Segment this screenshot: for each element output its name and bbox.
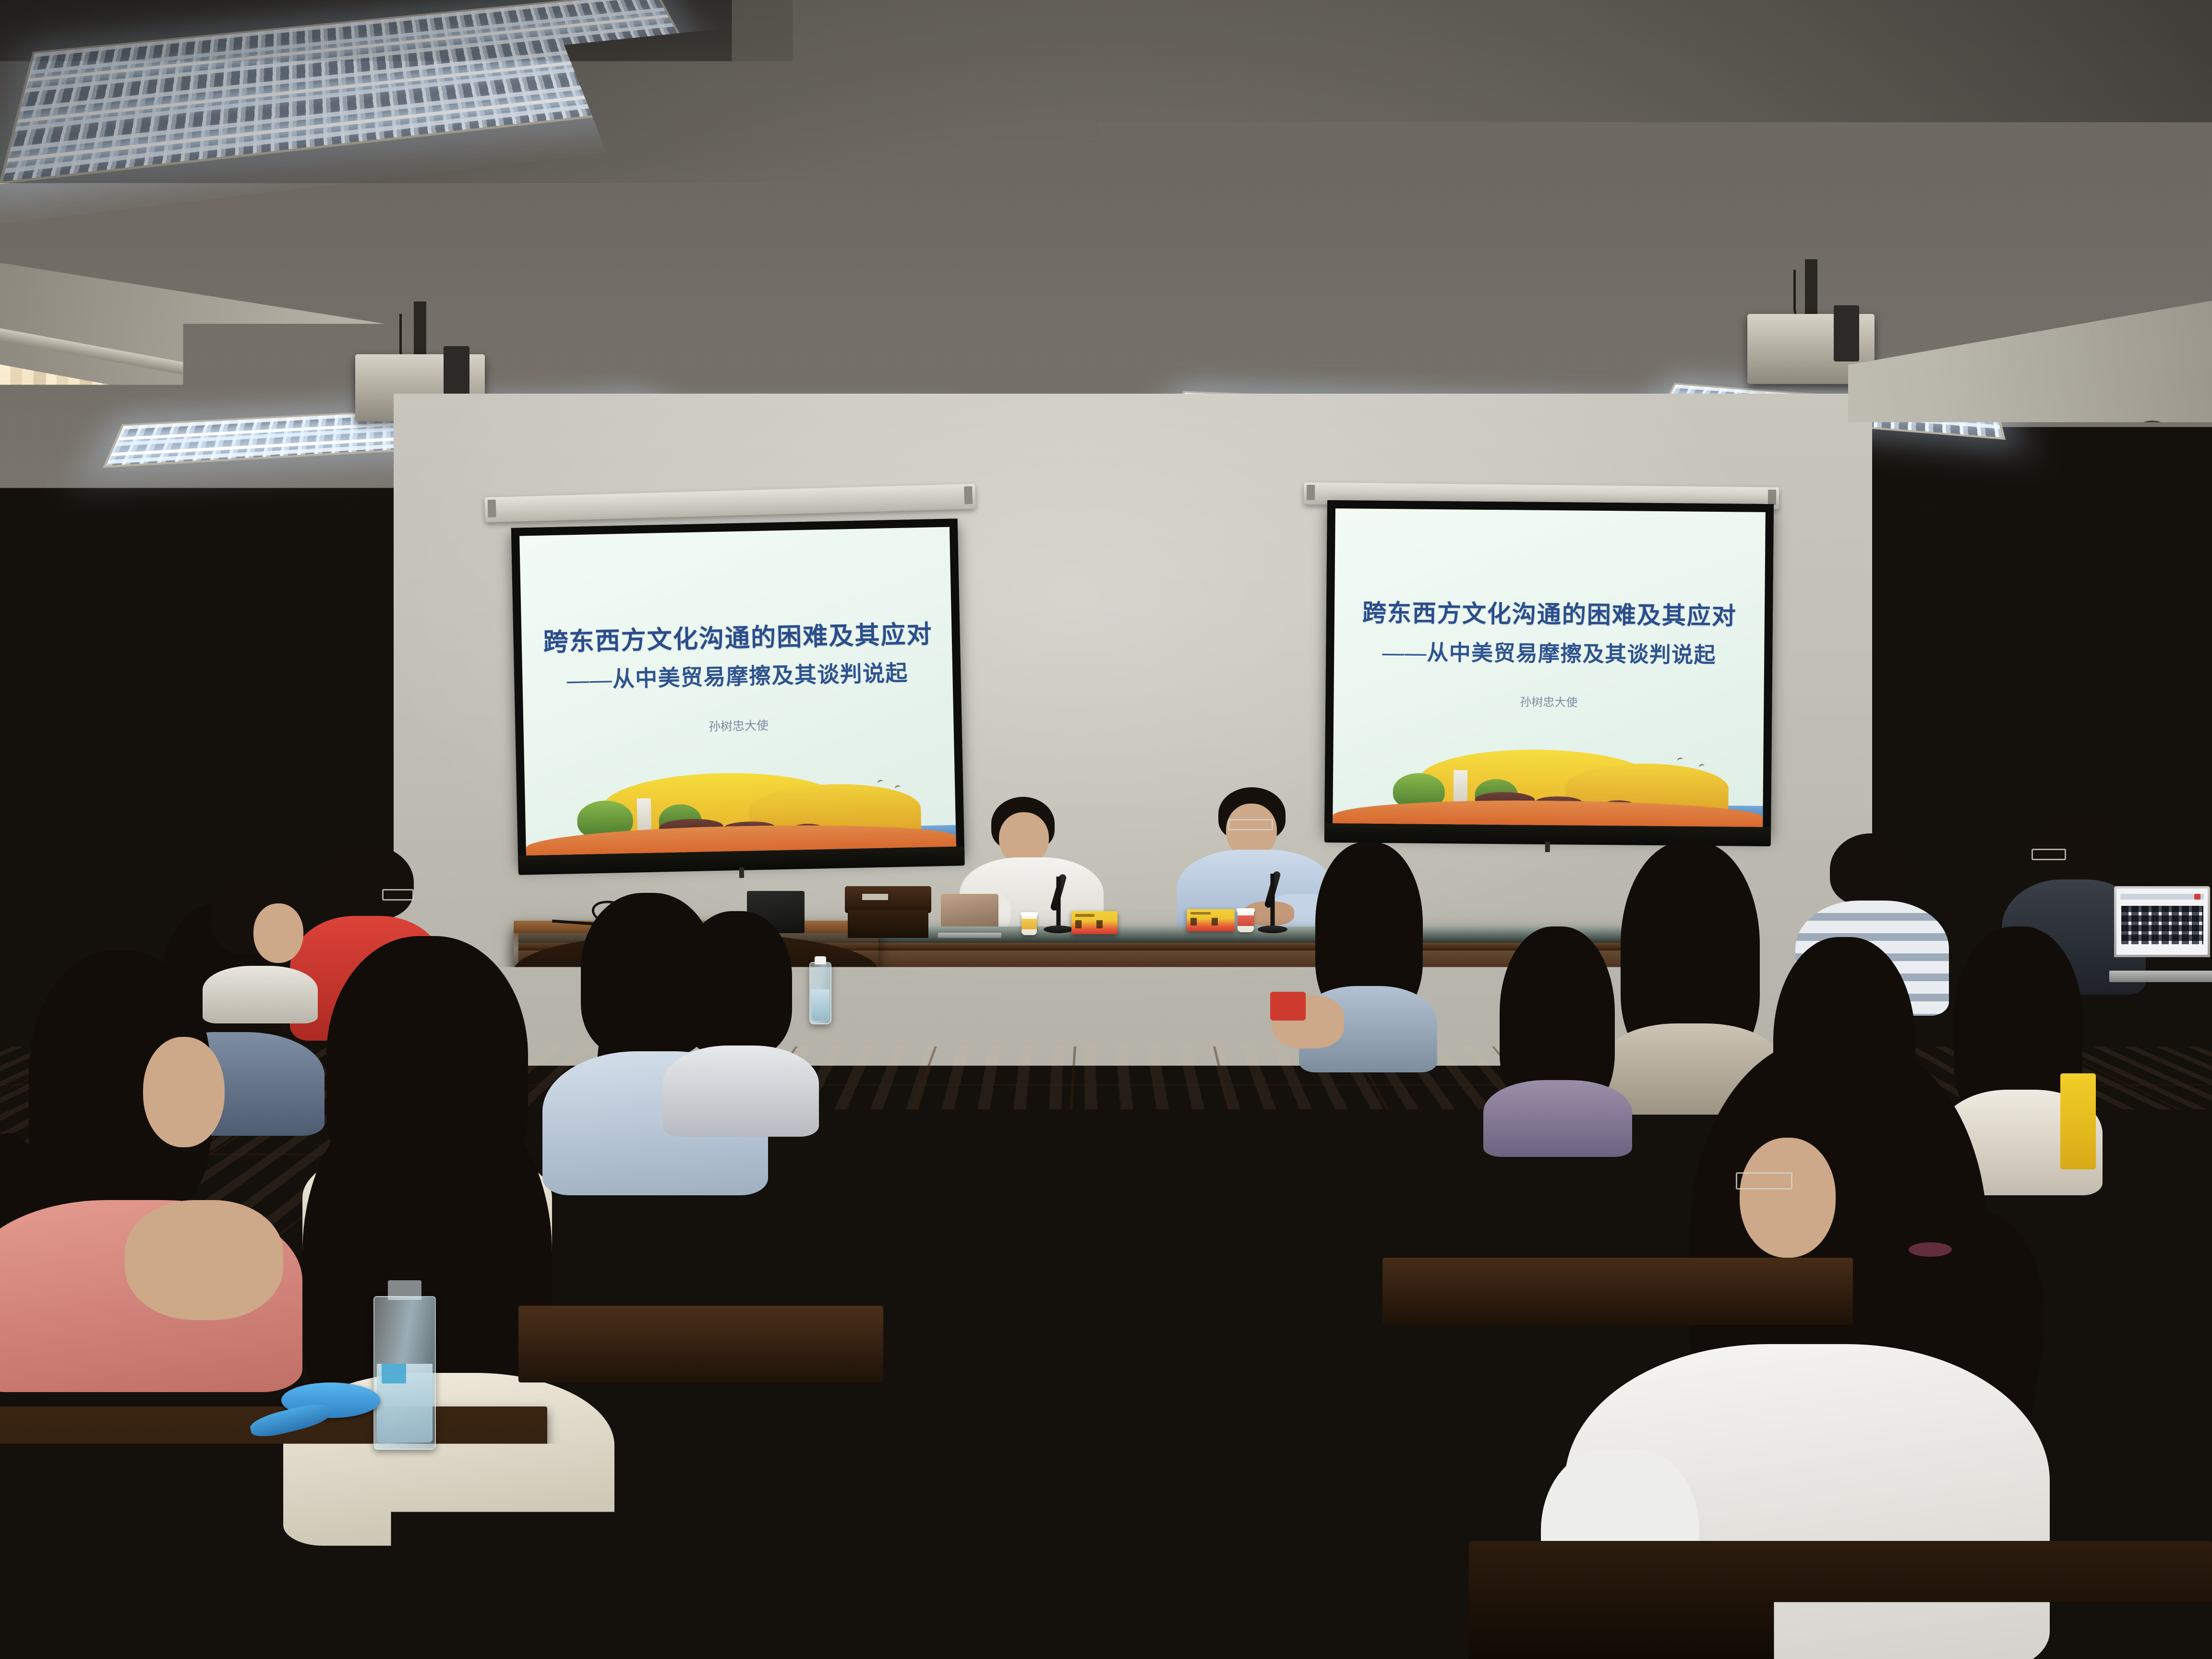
chair-label <box>862 894 888 900</box>
glass-water-bottle[interactable] <box>373 1296 436 1450</box>
slide-title-right: 跨东西方文化沟通的困难及其应对 <box>1356 594 1743 632</box>
bench-seat-left <box>202 1531 768 1659</box>
microphone-left[interactable] <box>1044 877 1073 933</box>
torso <box>662 1046 819 1137</box>
right-projection-screen: 跨东西方文化沟通的困难及其应对 ——从中美贸易摩擦及其谈判说起 孙树忠大使 <box>1324 500 1774 835</box>
hair <box>2033 811 2120 883</box>
name-placard-right <box>1187 909 1235 931</box>
student-laptop[interactable] <box>2114 886 2210 982</box>
left-slide-canvas: 跨东西方文化沟通的困难及其应对 ——从中美贸易摩擦及其谈判说起 孙树忠大使 <box>519 527 956 856</box>
bird-icon <box>1698 764 1705 770</box>
slide-subtitle-right: ——从中美贸易摩擦及其谈判说起 <box>1356 635 1743 669</box>
lecture-hall-photo: 跨东西方文化沟通的困难及其应对 ——从中美贸易摩擦及其谈判说起 孙树忠大使 <box>0 0 2212 1659</box>
red-sleeve <box>1270 992 1306 1021</box>
face <box>1740 1138 1836 1258</box>
glasses-icon <box>382 889 414 901</box>
slide-presenter-right: 孙树忠大使 <box>1355 691 1743 711</box>
door-handle-left[interactable] <box>2108 746 2116 792</box>
hair <box>682 911 792 1055</box>
student-right-blue-left <box>1296 842 1440 1068</box>
floor-outlet-cover <box>946 1372 994 1390</box>
door-push-bar[interactable] <box>2088 762 2140 767</box>
paper-cup-right <box>1238 908 1254 932</box>
slide-presenter-left: 孙树忠大使 <box>545 713 932 738</box>
bench-back-right <box>1382 1258 1853 1325</box>
slide-title-left: 跨东西方文化沟通的困难及其应对 <box>543 613 931 658</box>
glasses-icon <box>1736 1172 1792 1190</box>
bird-icon <box>877 779 883 786</box>
floor-outlet-cover <box>1084 1371 1132 1389</box>
plastic-water-bottle[interactable] <box>809 962 831 1024</box>
right-slide-canvas: 跨东西方文化沟通的困难及其应对 ——从中美贸易摩擦及其谈判说起 孙树忠大使 <box>1333 508 1766 827</box>
paper-cup-left <box>1022 912 1037 935</box>
name-placard-left <box>1071 911 1118 934</box>
slide-artwork-right <box>1333 742 1763 827</box>
arm <box>125 1200 283 1320</box>
hair <box>322 845 414 920</box>
door-handle-right[interactable] <box>2129 746 2138 792</box>
floor-outlet-cover <box>1136 1370 1184 1388</box>
bottle-label <box>382 1364 406 1383</box>
ac-grille <box>292 742 369 812</box>
ac-logo <box>292 823 313 833</box>
laptop-on-podium[interactable] <box>941 894 998 938</box>
student-mid-white <box>662 911 821 1132</box>
hair <box>1830 833 1911 905</box>
face <box>143 1037 225 1147</box>
bird-icon <box>1677 757 1683 763</box>
hair-tie <box>1909 1242 1952 1257</box>
floor-outlet-cover <box>998 1371 1046 1389</box>
slide-subtitle-left: ——从中美贸易摩擦及其谈判说起 <box>543 655 931 695</box>
bench-seat-right <box>1469 1541 2212 1659</box>
door-upper-panel <box>2024 496 2212 563</box>
left-projection-screen: 跨东西方文化沟通的困难及其应对 ——从中美贸易摩擦及其谈判说起 孙树忠大使 <box>511 518 964 864</box>
microphone-right[interactable] <box>1258 874 1287 933</box>
empty-chair[interactable] <box>845 886 931 942</box>
slide-artwork-left <box>524 763 956 855</box>
glasses-icon <box>2032 849 2066 860</box>
glasses-icon <box>1228 819 1273 830</box>
bench-back-mid <box>518 1306 883 1382</box>
